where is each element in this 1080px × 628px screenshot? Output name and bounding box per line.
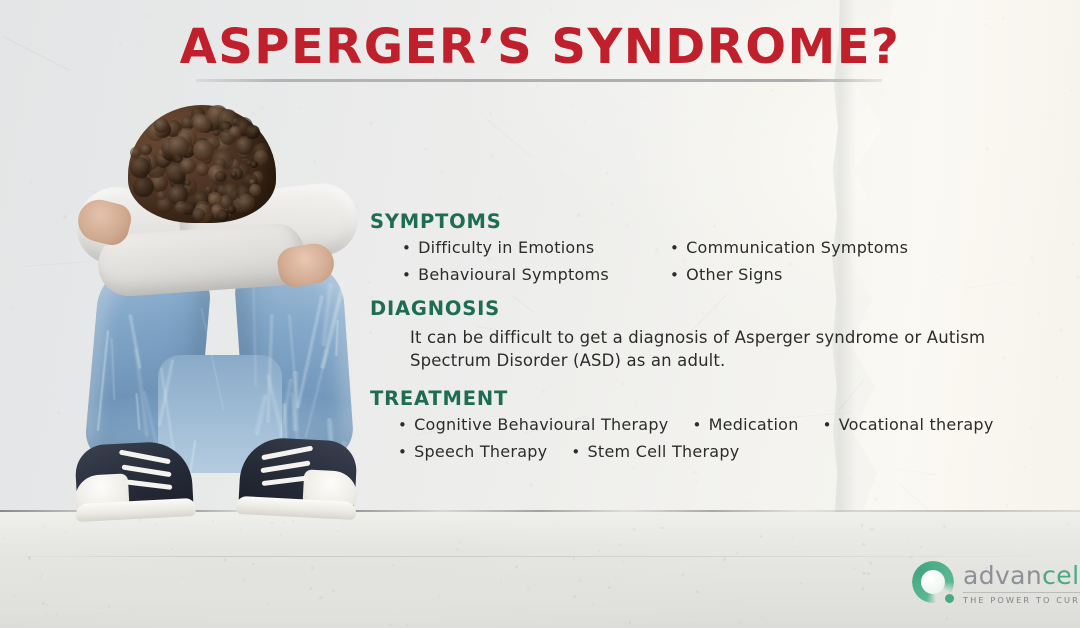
logo-tagline: THE POWER TO CURE (963, 592, 1080, 604)
diagnosis-paragraph: It can be difficult to get a diagnosis o… (370, 326, 1010, 373)
bullet-dot-icon: • (670, 266, 679, 284)
section-heading-diagnosis: DIAGNOSIS (370, 297, 1080, 320)
bullet-row: •Behavioural Symptoms •Other Signs (402, 266, 1080, 284)
list-item-label: Difficulty in Emotions (418, 238, 594, 257)
section-heading-treatment: TREATMENT (370, 387, 1080, 410)
content-column: SYMPTOMS •Difficulty in Emotions •Commun… (370, 210, 1080, 470)
advancells-circle-mark-icon (912, 561, 958, 607)
bullet-dot-icon: • (692, 416, 701, 434)
section-heading-symptoms: SYMPTOMS (370, 210, 1080, 233)
list-item: •Communication Symptoms (670, 239, 908, 257)
poster-title-wrap: ASPERGER’S SYNDROME? (0, 22, 1080, 78)
list-item: •Behavioural Symptoms (402, 266, 670, 284)
bullet-dot-icon: • (398, 443, 407, 461)
list-item-label: Behavioural Symptoms (418, 265, 609, 284)
bullet-row: •Cognitive Behavioural Therapy •Medicati… (398, 416, 1080, 434)
list-item: •Vocational therapy (823, 416, 994, 434)
title-underline (196, 79, 882, 82)
bullet-dot-icon: • (402, 239, 411, 257)
logo-inner-circle (921, 570, 945, 594)
list-item: •Stem Cell Therapy (571, 443, 739, 461)
list-item: •Other Signs (670, 266, 783, 284)
bullet-dot-icon: • (571, 443, 580, 461)
logo-dot (945, 594, 954, 603)
list-item: •Cognitive Behavioural Therapy (398, 416, 668, 434)
list-item-label: Other Signs (686, 265, 783, 284)
right-sneaker (238, 436, 358, 516)
list-item-label: Cognitive Behavioural Therapy (414, 415, 668, 434)
list-item: •Difficulty in Emotions (402, 239, 670, 257)
poster-canvas: ASPERGER’S SYNDROME? SYMPTOMS •Difficult… (0, 0, 1080, 628)
bullet-dot-icon: • (398, 416, 407, 434)
bullet-dot-icon: • (823, 416, 832, 434)
list-item: •Medication (692, 416, 798, 434)
logo-name-part1: advan (963, 561, 1042, 590)
bullet-dot-icon: • (670, 239, 679, 257)
logo-word-row: advancells (963, 563, 1080, 588)
list-item-label: Vocational therapy (839, 415, 994, 434)
bullet-row: •Difficulty in Emotions •Communication S… (402, 239, 1080, 257)
bullet-row: •Speech Therapy •Stem Cell Therapy (398, 443, 1080, 461)
brand-logo[interactable]: advancells THE POWER TO CURE (912, 552, 1076, 616)
left-sneaker (74, 440, 194, 518)
list-item-label: Communication Symptoms (686, 238, 908, 257)
list-item-label: Speech Therapy (414, 442, 547, 461)
section-treatment: TREATMENT •Cognitive Behavioural Therapy… (370, 387, 1080, 462)
logo-wordmark: advancells THE POWER TO CURE (963, 563, 1080, 604)
list-item-label: Medication (709, 415, 799, 434)
photo-seated-teen (40, 105, 370, 535)
symptoms-bullet-list: •Difficulty in Emotions •Communication S… (370, 239, 1080, 285)
section-symptoms: SYMPTOMS •Difficulty in Emotions •Commun… (370, 210, 1080, 285)
list-item: •Speech Therapy (398, 443, 547, 461)
treatment-bullet-list: •Cognitive Behavioural Therapy •Medicati… (370, 416, 1080, 462)
page-title: ASPERGER’S SYNDROME? (174, 22, 907, 78)
logo-name-part2: cells (1042, 561, 1080, 590)
bullet-dot-icon: • (402, 266, 411, 284)
section-diagnosis: DIAGNOSIS It can be difficult to get a d… (370, 297, 1080, 373)
list-item-label: Stem Cell Therapy (588, 442, 740, 461)
